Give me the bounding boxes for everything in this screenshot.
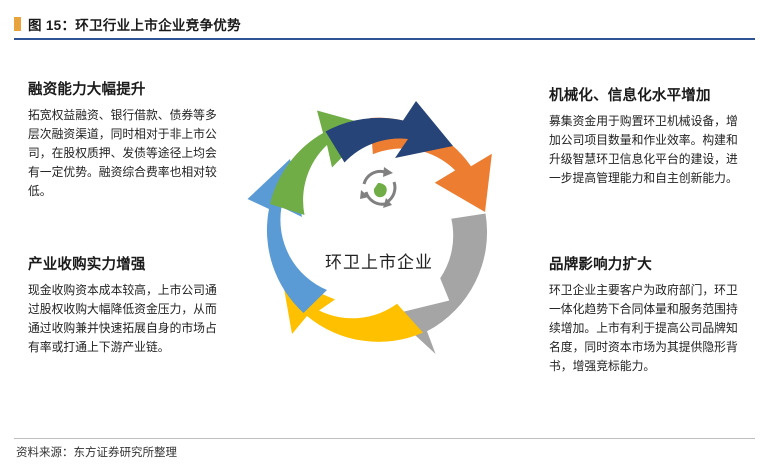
recycle-arrows-icon xyxy=(360,167,395,208)
block-top-right-body: 募集资金用于购置环卫机械设备，增加公司项目数量和作业效率。构建和升级智慧环卫信息… xyxy=(549,112,749,188)
block-top-right: 机械化、信息化水平增加 募集资金用于购置环卫机械设备，增加公司项目数量和作业效率… xyxy=(549,84,749,188)
source-divider xyxy=(14,438,755,439)
block-bottom-left-body: 现金收购资本成本较高，上市公司通过股权收购大幅降低资金压力，从而通过收购兼并快速… xyxy=(28,281,218,357)
figure-page: 图 15：环卫行业上市企业竞争优势 xyxy=(0,0,769,476)
block-bottom-left-title: 产业收购实力增强 xyxy=(28,253,218,274)
block-bottom-right-title: 品牌影响力扩大 xyxy=(549,253,749,274)
cycle-diagram: 环卫上市企业 xyxy=(229,80,529,380)
block-top-left: 融资能力大幅提升 拓宽权益融资、银行借款、债券等多层次融资渠道，同时相对于非上市… xyxy=(28,78,218,202)
figure-title-bar: 图 15：环卫行业上市企业竞争优势 xyxy=(14,14,755,40)
source-note: 资料来源：东方证券研究所整理 xyxy=(16,444,177,460)
block-top-left-title: 融资能力大幅提升 xyxy=(28,78,218,99)
block-bottom-left: 产业收购实力增强 现金收购资本成本较高，上市公司通过股权收购大幅降低资金压力，从… xyxy=(28,253,218,357)
block-top-left-body: 拓宽权益融资、银行借款、债券等多层次融资渠道，同时相对于非上市公司，在股权质押、… xyxy=(28,106,218,202)
title-marker-icon xyxy=(14,17,21,31)
block-bottom-right: 品牌影响力扩大 环卫企业主要客户为政府部门，环卫一体化趋势下合同体量和服务范围持… xyxy=(549,253,749,377)
cycle-ring-svg xyxy=(229,80,529,380)
diagram-center-label: 环卫上市企业 xyxy=(229,248,529,273)
block-bottom-right-body: 环卫企业主要客户为政府部门，环卫一体化趋势下合同体量和服务范围持续增加。上市有利… xyxy=(549,281,749,377)
block-top-right-title: 机械化、信息化水平增加 xyxy=(549,84,749,105)
page-title: 图 15：环卫行业上市企业竞争优势 xyxy=(28,14,241,34)
